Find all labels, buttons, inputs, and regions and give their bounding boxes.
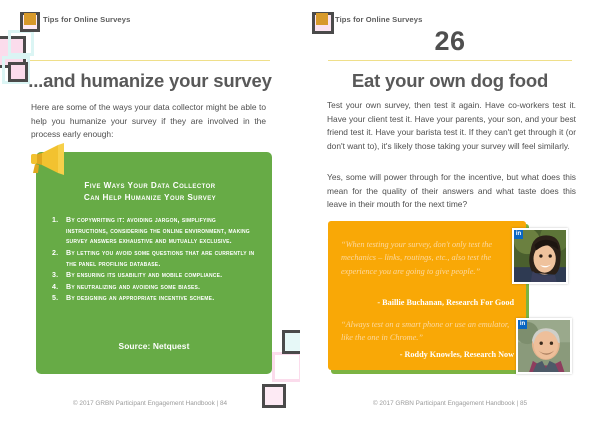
title-rule-right — [328, 60, 572, 61]
linkedin-badge-1[interactable]: in — [514, 230, 523, 239]
decorative-square-cyan-1 — [8, 30, 34, 56]
callout-heading-line-1: Five Ways Your Data Collector — [46, 180, 254, 192]
list-item: 3. By ensuring its usability and mobile … — [52, 270, 258, 281]
list-item-number: 4. — [52, 282, 58, 293]
list-item-text: By designing an appropriate incentive sc… — [66, 294, 214, 302]
body-paragraph-1: Test your own survey, then test it again… — [327, 99, 576, 153]
megaphone-icon — [28, 142, 72, 176]
list-item-text: By ensuring its usability and mobile com… — [66, 271, 222, 279]
list-item-text: By neutralizing and avoiding some biases… — [66, 283, 200, 291]
callout-list: 1. By copywriting it: avoiding jargon, s… — [52, 215, 258, 305]
decorative-square-pink-1 — [0, 36, 26, 68]
list-item-number: 3. — [52, 270, 58, 281]
decorative-square-cyan-3 — [282, 330, 300, 354]
page-title-left: ...and humanize your survey — [0, 70, 300, 92]
intro-paragraph: Here are some of the ways your data coll… — [31, 101, 266, 142]
callout-heading-line-2: Can Help Humanize Your Survey — [46, 192, 254, 204]
title-rule-left — [30, 60, 270, 61]
running-header-label: Tips for Online Surveys — [335, 15, 422, 24]
list-item: 2. By letting you avoid some questions t… — [52, 248, 258, 269]
left-page: Tips for Online Surveys ...and humanize … — [0, 0, 300, 424]
quote-attribution-1: - Baillie Buchanan, Research For Good — [341, 298, 514, 307]
running-header-left: Tips for Online Surveys — [24, 13, 130, 25]
quote-text-2: “Always test on a smart phone or use an … — [341, 318, 514, 345]
quote-attribution-2: - Roddy Knowles, Research Now — [341, 350, 514, 359]
list-item-number: 2. — [52, 248, 58, 259]
footer-left: © 2017 GRBN Participant Engagement Handb… — [0, 400, 300, 407]
list-item-text: By letting you avoid some questions that… — [66, 249, 254, 268]
list-item: 1. By copywriting it: avoiding jargon, s… — [52, 215, 258, 247]
running-header-label: Tips for Online Surveys — [43, 15, 130, 24]
header-marker-icon — [24, 13, 36, 25]
linkedin-badge-2[interactable]: in — [518, 320, 527, 329]
list-item: 4. By neutralizing and avoiding some bia… — [52, 282, 258, 293]
chapter-number: 26 — [300, 26, 600, 57]
list-item-text: By copywriting it: avoiding jargon, simp… — [66, 216, 250, 245]
list-item-number: 1. — [52, 215, 58, 226]
right-page: Tips for Online Surveys 26 Eat your own … — [300, 0, 600, 424]
page-title-right: Eat your own dog food — [300, 70, 600, 92]
list-item: 5. By designing an appropriate incentive… — [52, 293, 258, 304]
decorative-square-pink-4 — [272, 352, 300, 382]
book-spread: Tips for Online Surveys ...and humanize … — [0, 0, 600, 424]
header-marker-icon — [316, 13, 328, 25]
quote-text-1: “When testing your survey, don't only te… — [341, 238, 514, 278]
footer-right: © 2017 GRBN Participant Engagement Handb… — [300, 400, 600, 407]
list-item-number: 5. — [52, 293, 58, 304]
running-header-right: Tips for Online Surveys — [316, 13, 422, 25]
callout-source: Source: Netquest — [36, 341, 272, 351]
body-paragraph-2: Yes, some will power through for the inc… — [327, 171, 576, 212]
